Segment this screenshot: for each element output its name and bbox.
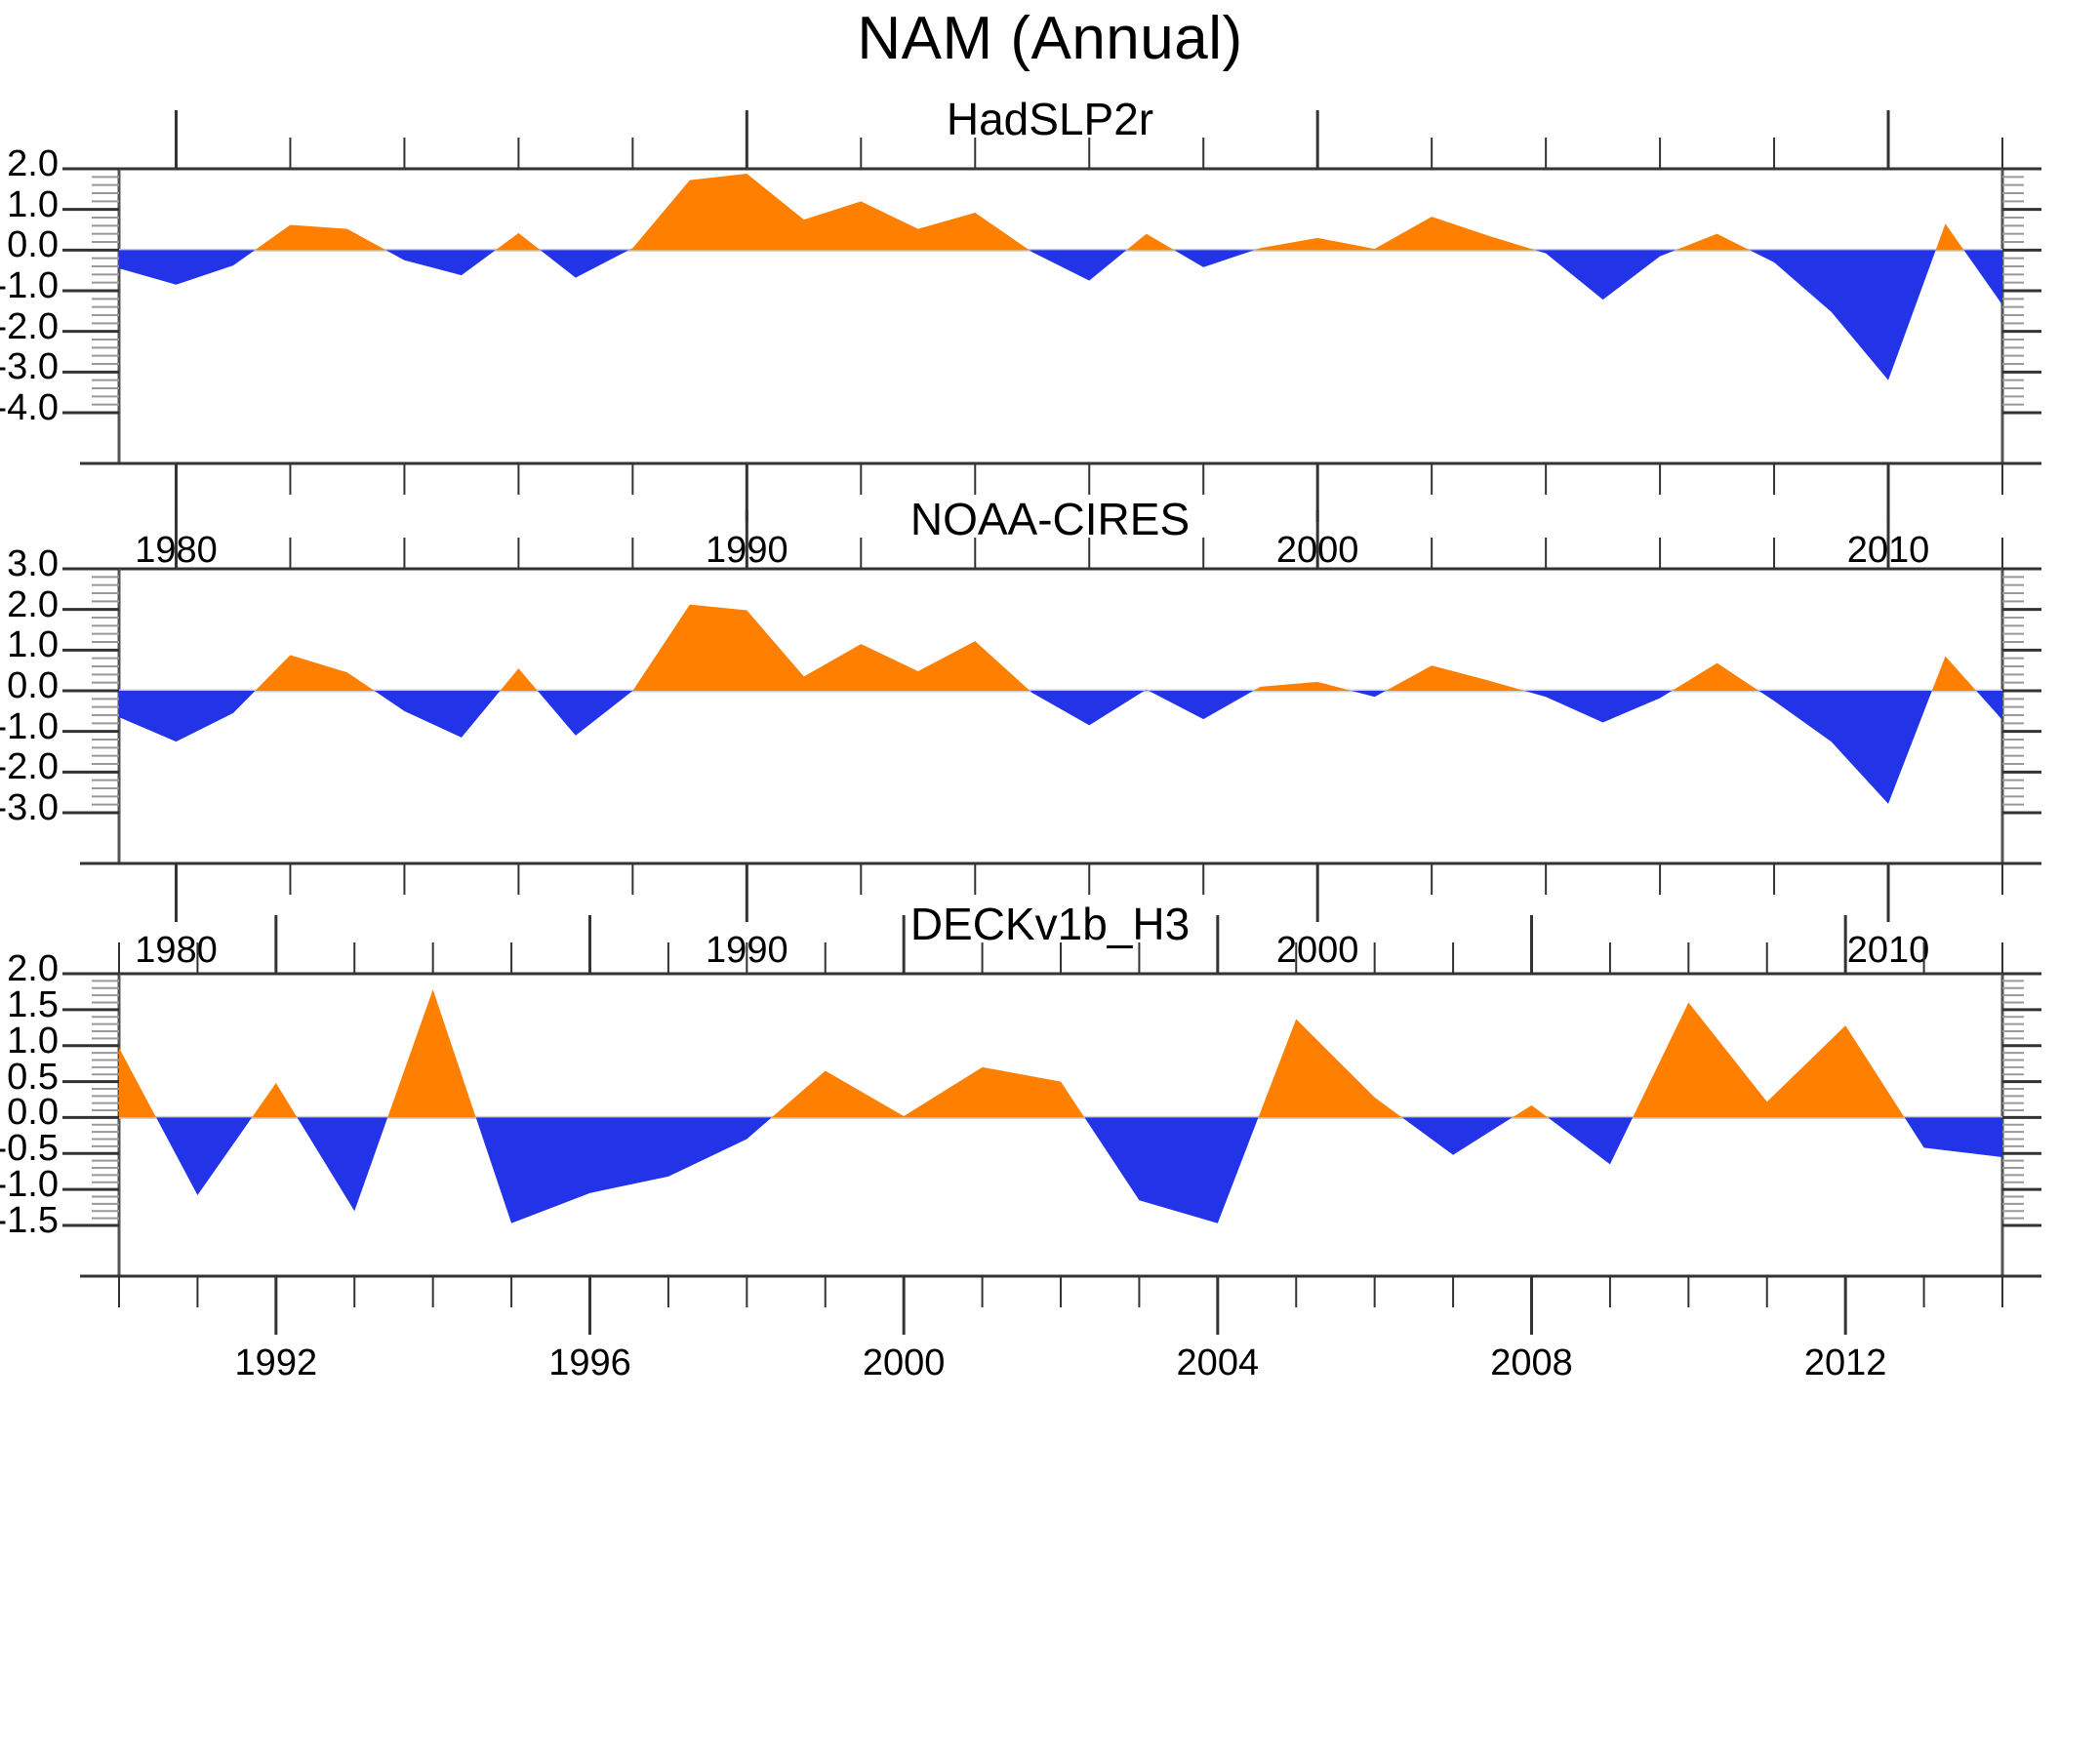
area-positive-0-1	[496, 233, 541, 250]
area-positive-1-6	[1672, 663, 1758, 691]
area-positive-2-3	[772, 1067, 1085, 1118]
area-positive-2-4	[1258, 1019, 1401, 1117]
y-tick-label: -4.0	[0, 387, 59, 429]
area-negative-2-3	[1084, 1117, 1258, 1222]
area-positive-0-6	[1936, 223, 1964, 250]
area-positive-1-0	[255, 655, 374, 691]
area-negative-0-2	[541, 250, 629, 277]
x-tick-label: 2008	[1434, 1342, 1630, 1384]
area-negative-1-4	[1149, 691, 1253, 719]
area-positive-0-0	[255, 225, 385, 251]
y-tick-label: -1.0	[0, 706, 59, 748]
x-tick-label: 1996	[493, 1342, 688, 1384]
area-positive-2-1	[252, 1083, 297, 1117]
area-negative-0-7	[1964, 250, 2002, 304]
area-positive-1-5	[1386, 665, 1524, 691]
y-tick-label: -2.0	[0, 746, 59, 788]
area-negative-2-6	[1905, 1117, 2002, 1157]
x-tick-label: 2012	[1748, 1342, 1943, 1384]
area-negative-0-1	[385, 250, 495, 275]
area-negative-1-2	[538, 691, 632, 736]
x-tick-label: 2004	[1120, 1342, 1315, 1384]
y-tick-label: 1.0	[7, 184, 59, 226]
area-negative-0-3	[1030, 250, 1127, 280]
area-positive-0-2	[628, 174, 1029, 250]
area-negative-1-6	[1524, 691, 1672, 723]
y-tick-label: 2.0	[7, 143, 59, 185]
y-tick-label: 0.0	[7, 224, 59, 266]
area-positive-1-4	[1253, 682, 1352, 691]
area-negative-1-7	[1758, 691, 1931, 804]
area-negative-1-1	[375, 691, 501, 738]
y-tick-label: 1.0	[7, 624, 59, 666]
area-negative-2-4	[1402, 1117, 1513, 1154]
y-tick-label: -3.0	[0, 787, 59, 829]
area-positive-2-5	[1513, 1105, 1548, 1118]
area-positive-1-2	[632, 605, 1030, 691]
area-positive-0-4	[1254, 217, 1535, 250]
area-negative-2-1	[298, 1117, 388, 1211]
area-positive-1-7	[1932, 657, 1976, 691]
plot-area-2: 2.01.51.00.50.0-0.5-1.0-1.51992199620002…	[0, 898, 2100, 1383]
y-tick-label: -1.5	[0, 1200, 59, 1242]
area-positive-0-5	[1676, 234, 1750, 251]
y-tick-label: -3.0	[0, 346, 59, 388]
y-tick-label: 0.0	[7, 665, 59, 707]
area-negative-2-5	[1548, 1117, 1633, 1164]
area-negative-2-2	[476, 1117, 772, 1222]
area-positive-2-2	[387, 989, 476, 1117]
area-negative-0-4	[1174, 250, 1254, 267]
area-negative-0-0	[119, 250, 255, 284]
y-tick-label: -1.0	[0, 265, 59, 307]
area-positive-2-0	[119, 1048, 156, 1118]
y-tick-label: 3.0	[7, 543, 59, 585]
panel-deckv1b-h3: DECKv1b_H3 2.01.51.00.50.0-0.5-1.0-1.519…	[0, 898, 2100, 1503]
x-tick-label: 1992	[179, 1342, 374, 1384]
area-negative-1-8	[1976, 691, 2002, 720]
y-tick-label: 2.0	[7, 584, 59, 626]
figure-root: NAM (Annual) HadSLP2r 2.01.00.0-1.0-2.0-…	[0, 0, 2100, 1763]
area-negative-1-5	[1352, 691, 1386, 697]
area-positive-2-6	[1633, 1002, 1905, 1117]
chart-svg-2	[0, 898, 2100, 1383]
area-negative-2-0	[156, 1117, 252, 1195]
area-negative-1-0	[119, 691, 255, 741]
figure-title: NAM (Annual)	[0, 4, 2100, 73]
y-tick-label: -2.0	[0, 306, 59, 348]
area-negative-0-5	[1535, 250, 1676, 300]
area-positive-1-1	[500, 668, 537, 691]
area-positive-0-3	[1126, 234, 1174, 251]
x-tick-label: 2000	[806, 1342, 1001, 1384]
area-negative-1-3	[1030, 691, 1144, 725]
area-negative-0-6	[1750, 250, 1936, 380]
